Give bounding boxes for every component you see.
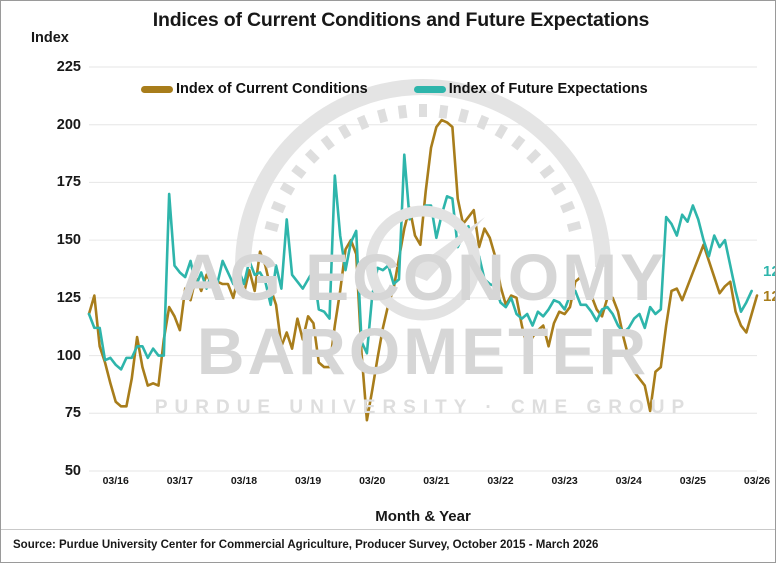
y-axis-tick-label: 125	[21, 290, 81, 306]
x-axis-tick-label: 03/24	[616, 475, 642, 487]
y-axis-tick-label: 50	[21, 463, 81, 479]
x-axis-tick-label: 03/26	[744, 475, 770, 487]
y-axis-title: Index	[31, 30, 69, 46]
legend-swatch-current-conditions	[141, 86, 173, 93]
y-axis-tick-label: 200	[21, 117, 81, 133]
series-line	[89, 155, 752, 370]
series-lines	[89, 67, 757, 471]
legend-label-current-conditions: Index of Current Conditions	[176, 81, 368, 97]
y-axis-ticks: 5075100125150175200225	[19, 67, 81, 471]
y-axis-tick-label: 175	[21, 174, 81, 190]
x-axis-tick-label: 03/21	[423, 475, 449, 487]
end-value-label-current-conditions: 126	[763, 288, 776, 305]
x-axis-tick-label: 03/22	[487, 475, 513, 487]
y-axis-tick-label: 100	[21, 348, 81, 364]
x-axis-ticks: 03/1603/1703/1803/1903/2003/2103/2203/23…	[89, 475, 757, 495]
legend-swatch-future-expectations	[414, 86, 446, 93]
x-axis-tick-label: 03/23	[551, 475, 577, 487]
legend-label-future-expectations: Index of Future Expectations	[449, 81, 648, 97]
x-axis-tick-label: 03/18	[231, 475, 257, 487]
source-note: Source: Purdue University Center for Com…	[13, 539, 598, 551]
x-axis-tick-label: 03/20	[359, 475, 385, 487]
chart-legend: Index of Current Conditions Index of Fut…	[141, 81, 648, 97]
x-axis-title: Month & Year	[89, 508, 757, 525]
page-title: Indices of Current Conditions and Future…	[91, 9, 711, 32]
x-axis-tick-label: 03/19	[295, 475, 321, 487]
x-axis-tick-label: 03/25	[680, 475, 706, 487]
plot-area	[89, 67, 757, 471]
legend-item-future-expectations: Index of Future Expectations	[414, 81, 648, 97]
footer-divider	[1, 529, 776, 530]
x-axis-tick-label: 03/17	[167, 475, 193, 487]
y-axis-tick-label: 225	[21, 59, 81, 75]
x-axis-tick-label: 03/16	[103, 475, 129, 487]
series-line	[89, 120, 757, 420]
y-axis-tick-label: 150	[21, 232, 81, 248]
end-value-label-future-expectations: 128	[763, 263, 776, 280]
chart-screenshot: Indices of Current Conditions and Future…	[0, 0, 776, 563]
legend-item-current-conditions: Index of Current Conditions	[141, 81, 368, 97]
y-axis-tick-label: 75	[21, 405, 81, 421]
